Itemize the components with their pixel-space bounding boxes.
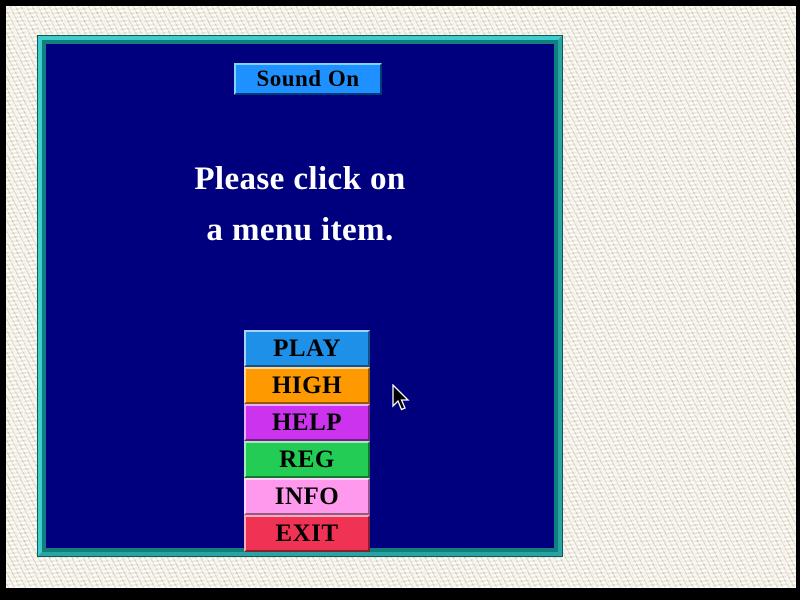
game-panel: Sound On Please click on a menu item. PL… xyxy=(38,36,562,556)
menu-button-play[interactable]: PLAY xyxy=(244,330,370,367)
menu-button-info[interactable]: INFO xyxy=(244,478,370,515)
menu-button-stack: PLAYHIGHHELPREGINFOEXIT xyxy=(244,330,370,552)
mouse-cursor-arrow-icon xyxy=(392,384,412,414)
menu-button-reg[interactable]: REG xyxy=(244,441,370,478)
sound-toggle-button[interactable]: Sound On xyxy=(234,63,382,95)
menu-button-high[interactable]: HIGH xyxy=(244,367,370,404)
menu-button-exit[interactable]: EXIT xyxy=(244,515,370,552)
game-panel-inner: Sound On Please click on a menu item. PL… xyxy=(46,44,554,548)
prompt-message-line-2: a menu item. xyxy=(46,205,554,256)
menu-button-help[interactable]: HELP xyxy=(244,404,370,441)
game-screen: Sound On Please click on a menu item. PL… xyxy=(0,0,800,600)
prompt-message-line-1: Please click on xyxy=(46,154,554,205)
prompt-message: Please click on a menu item. xyxy=(46,154,554,256)
